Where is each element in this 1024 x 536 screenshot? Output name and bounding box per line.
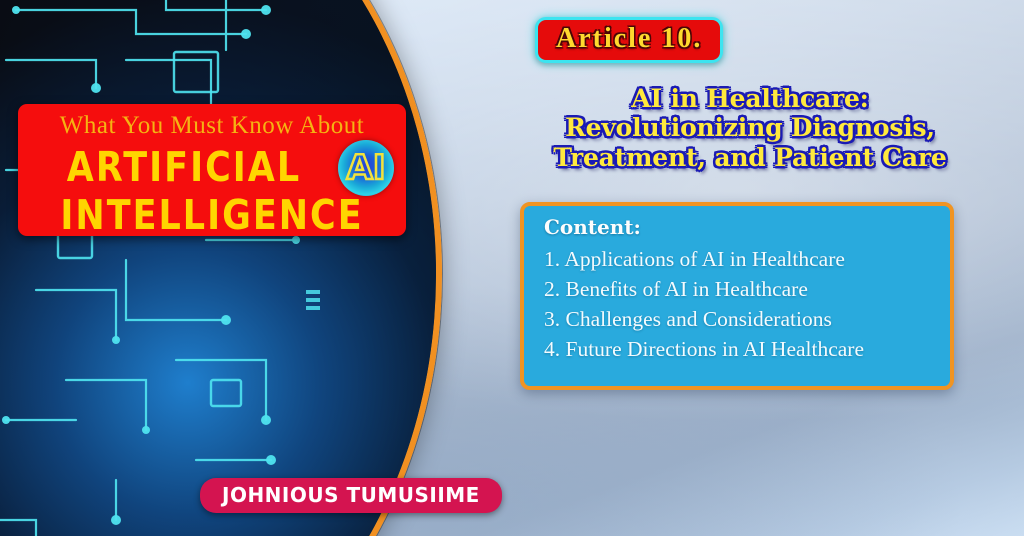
article-number-badge: Article 10. bbox=[535, 17, 723, 63]
headline-line-2: Revolutionizing Diagnosis, bbox=[500, 113, 1000, 142]
headline-line-1: AI in Healthcare: bbox=[500, 84, 1000, 113]
headline-line-3: Treatment, and Patient Care bbox=[500, 143, 1000, 172]
content-card-title: Content: bbox=[544, 215, 641, 239]
left-title-banner: What You Must Know About ARTIFICIAL INTE… bbox=[18, 104, 406, 236]
list-item: 1. Applications of AI in Healthcare bbox=[544, 244, 940, 274]
ai-logo-icon: AI bbox=[338, 140, 394, 196]
author-portrait bbox=[0, 404, 48, 536]
poster-canvas: 1101101101001101001001011001011011001011… bbox=[0, 0, 1024, 536]
ai-logo-text: AI bbox=[347, 151, 386, 185]
author-name-badge: JOHNIOUS TUMUSIIME bbox=[200, 478, 502, 513]
content-card-list: 1. Applications of AI in Healthcare 2. B… bbox=[544, 244, 940, 364]
banner-subtitle: What You Must Know About bbox=[18, 112, 406, 140]
article-number-label: Article 10. bbox=[556, 23, 702, 54]
circuit-board-graphic bbox=[0, 0, 436, 536]
headline: AI in Healthcare: Revolutionizing Diagno… bbox=[500, 84, 1000, 172]
list-item: 4. Future Directions in AI Healthcare bbox=[544, 334, 940, 364]
dark-oval-panel bbox=[0, 0, 442, 536]
content-card: Content: 1. Applications of AI in Health… bbox=[520, 202, 954, 390]
list-item: 2. Benefits of AI in Healthcare bbox=[544, 274, 940, 304]
banner-word-intelligence: INTELLIGENCE bbox=[18, 192, 406, 239]
list-item: 3. Challenges and Considerations bbox=[544, 304, 940, 334]
